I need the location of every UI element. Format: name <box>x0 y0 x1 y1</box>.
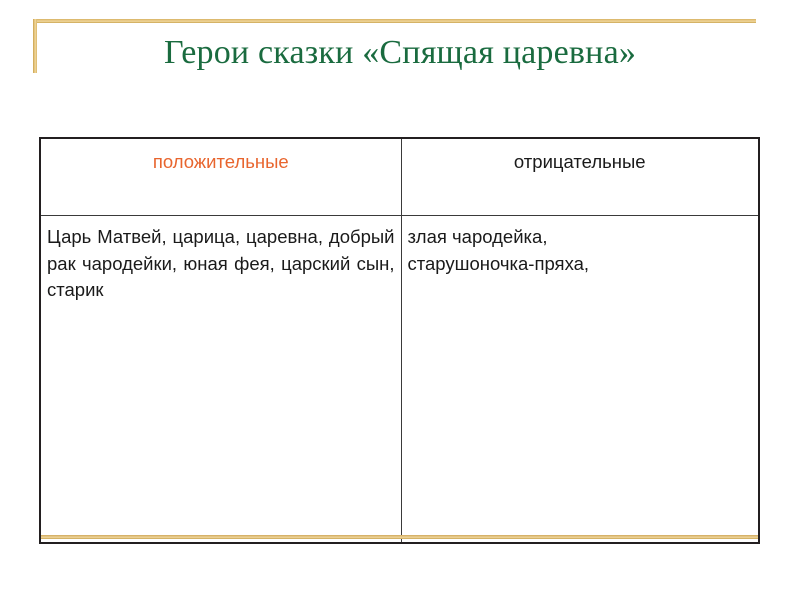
characters-table: положительные отрицательные Царь Матвей,… <box>39 137 760 544</box>
negative-characters-text: злая чародейка, старушоночка-пряха, <box>402 216 759 277</box>
table-header-row: положительные отрицательные <box>40 138 759 216</box>
column-header-positive-label: положительные <box>41 139 401 173</box>
table-header-cell-positive: положительные <box>40 138 401 216</box>
table-cell-positive-characters: Царь Матвей, царица, царевна, добрый рак… <box>40 216 401 544</box>
table-cell-negative-characters: злая чародейка, старушоночка-пряха, <box>401 216 759 544</box>
table-header-cell-negative: отрицательные <box>401 138 759 216</box>
positive-characters-text: Царь Матвей, царица, царевна, добрый рак… <box>41 216 401 304</box>
page-title: Герои сказки «Спящая царевна» <box>0 33 800 73</box>
column-header-negative-label: отрицательные <box>402 139 759 173</box>
frame-top-line <box>33 19 756 23</box>
table-row: Царь Матвей, царица, царевна, добрый рак… <box>40 216 759 544</box>
